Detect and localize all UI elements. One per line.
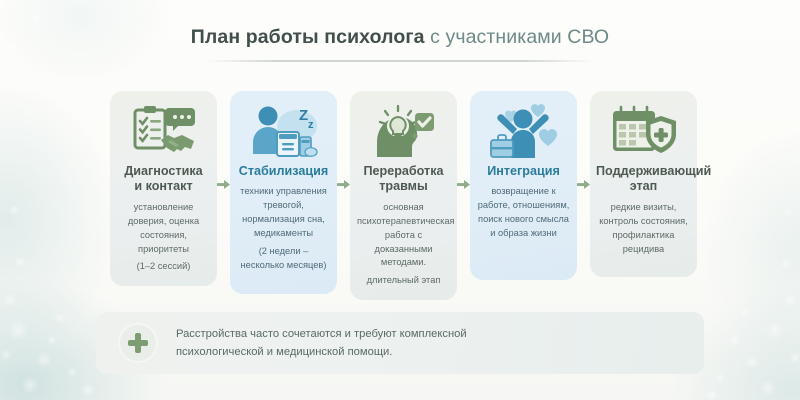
title-divider	[206, 60, 594, 62]
stage-card-body: основная психотерапевтическая работа с д…	[356, 201, 451, 289]
stage-card-stabilization[interactable]: Z z Стабилизация техники управления т	[230, 91, 337, 294]
stage-card-diagnostics[interactable]: Диагностикаи контакт установление довери…	[110, 91, 217, 286]
infographic-background: План работы психолога с участниками СВО	[0, 0, 800, 400]
stage-card-title: Поддерживающийэтап	[596, 164, 691, 195]
page-title-strong: План работы психолога	[191, 26, 425, 48]
person-arms-up-briefcase-hearts-icon	[476, 102, 571, 160]
stage-card-title: Переработкатравмы	[356, 164, 451, 195]
person-sleep-medication-icon: Z z	[236, 102, 331, 160]
arrow-right-icon	[457, 91, 470, 277]
calendar-shield-plus-icon	[596, 102, 691, 160]
clipboard-checklist-handshake-icon	[116, 102, 211, 160]
stage-card-body: техники управления тревогой, нормализаци…	[236, 185, 331, 273]
footnote-text: Расстройства часто сочетаются и требуют …	[176, 325, 467, 361]
stage-card-maintenance[interactable]: Поддерживающийэтап редкие визиты, контро…	[590, 91, 697, 277]
stage-card-title: Диагностикаи контакт	[116, 164, 211, 195]
stage-card-trauma-processing[interactable]: Переработкатравмы основная психотерапевт…	[350, 91, 457, 300]
stages-row: Диагностикаи контакт установление довери…	[110, 91, 698, 300]
stage-card-title: Стабилизация	[236, 164, 331, 179]
stage-card-title: Интеграция	[476, 164, 571, 179]
footnote-banner: Расстройства часто сочетаются и требуют …	[96, 312, 704, 374]
head-lightbulb-check-icon	[356, 102, 451, 160]
arrow-right-icon	[217, 91, 230, 277]
footnote-line-2: психологической и медицинской помощи.	[176, 343, 467, 361]
svg-text:Z: Z	[299, 107, 308, 124]
svg-text:z: z	[308, 119, 314, 131]
medical-cross-icon	[118, 323, 158, 363]
stage-card-body: возвращение к работе, отношениям, поиск …	[476, 185, 571, 241]
footnote-line-1: Расстройства часто сочетаются и требуют …	[176, 325, 467, 343]
page-title: План работы психолога с участниками СВО	[0, 26, 800, 49]
stage-card-body: редкие визиты, контроль состояния, профи…	[596, 201, 691, 257]
page-title-light: с участниками СВО	[425, 26, 610, 48]
arrow-right-icon	[577, 91, 590, 277]
stage-card-body: установление доверия, оценка состояния, …	[116, 201, 211, 275]
page-title-block: План работы психолога с участниками СВО	[0, 26, 800, 62]
stage-card-integration[interactable]: Интеграция возвращение к работе, отношен…	[470, 91, 577, 280]
arrow-right-icon	[337, 91, 350, 277]
